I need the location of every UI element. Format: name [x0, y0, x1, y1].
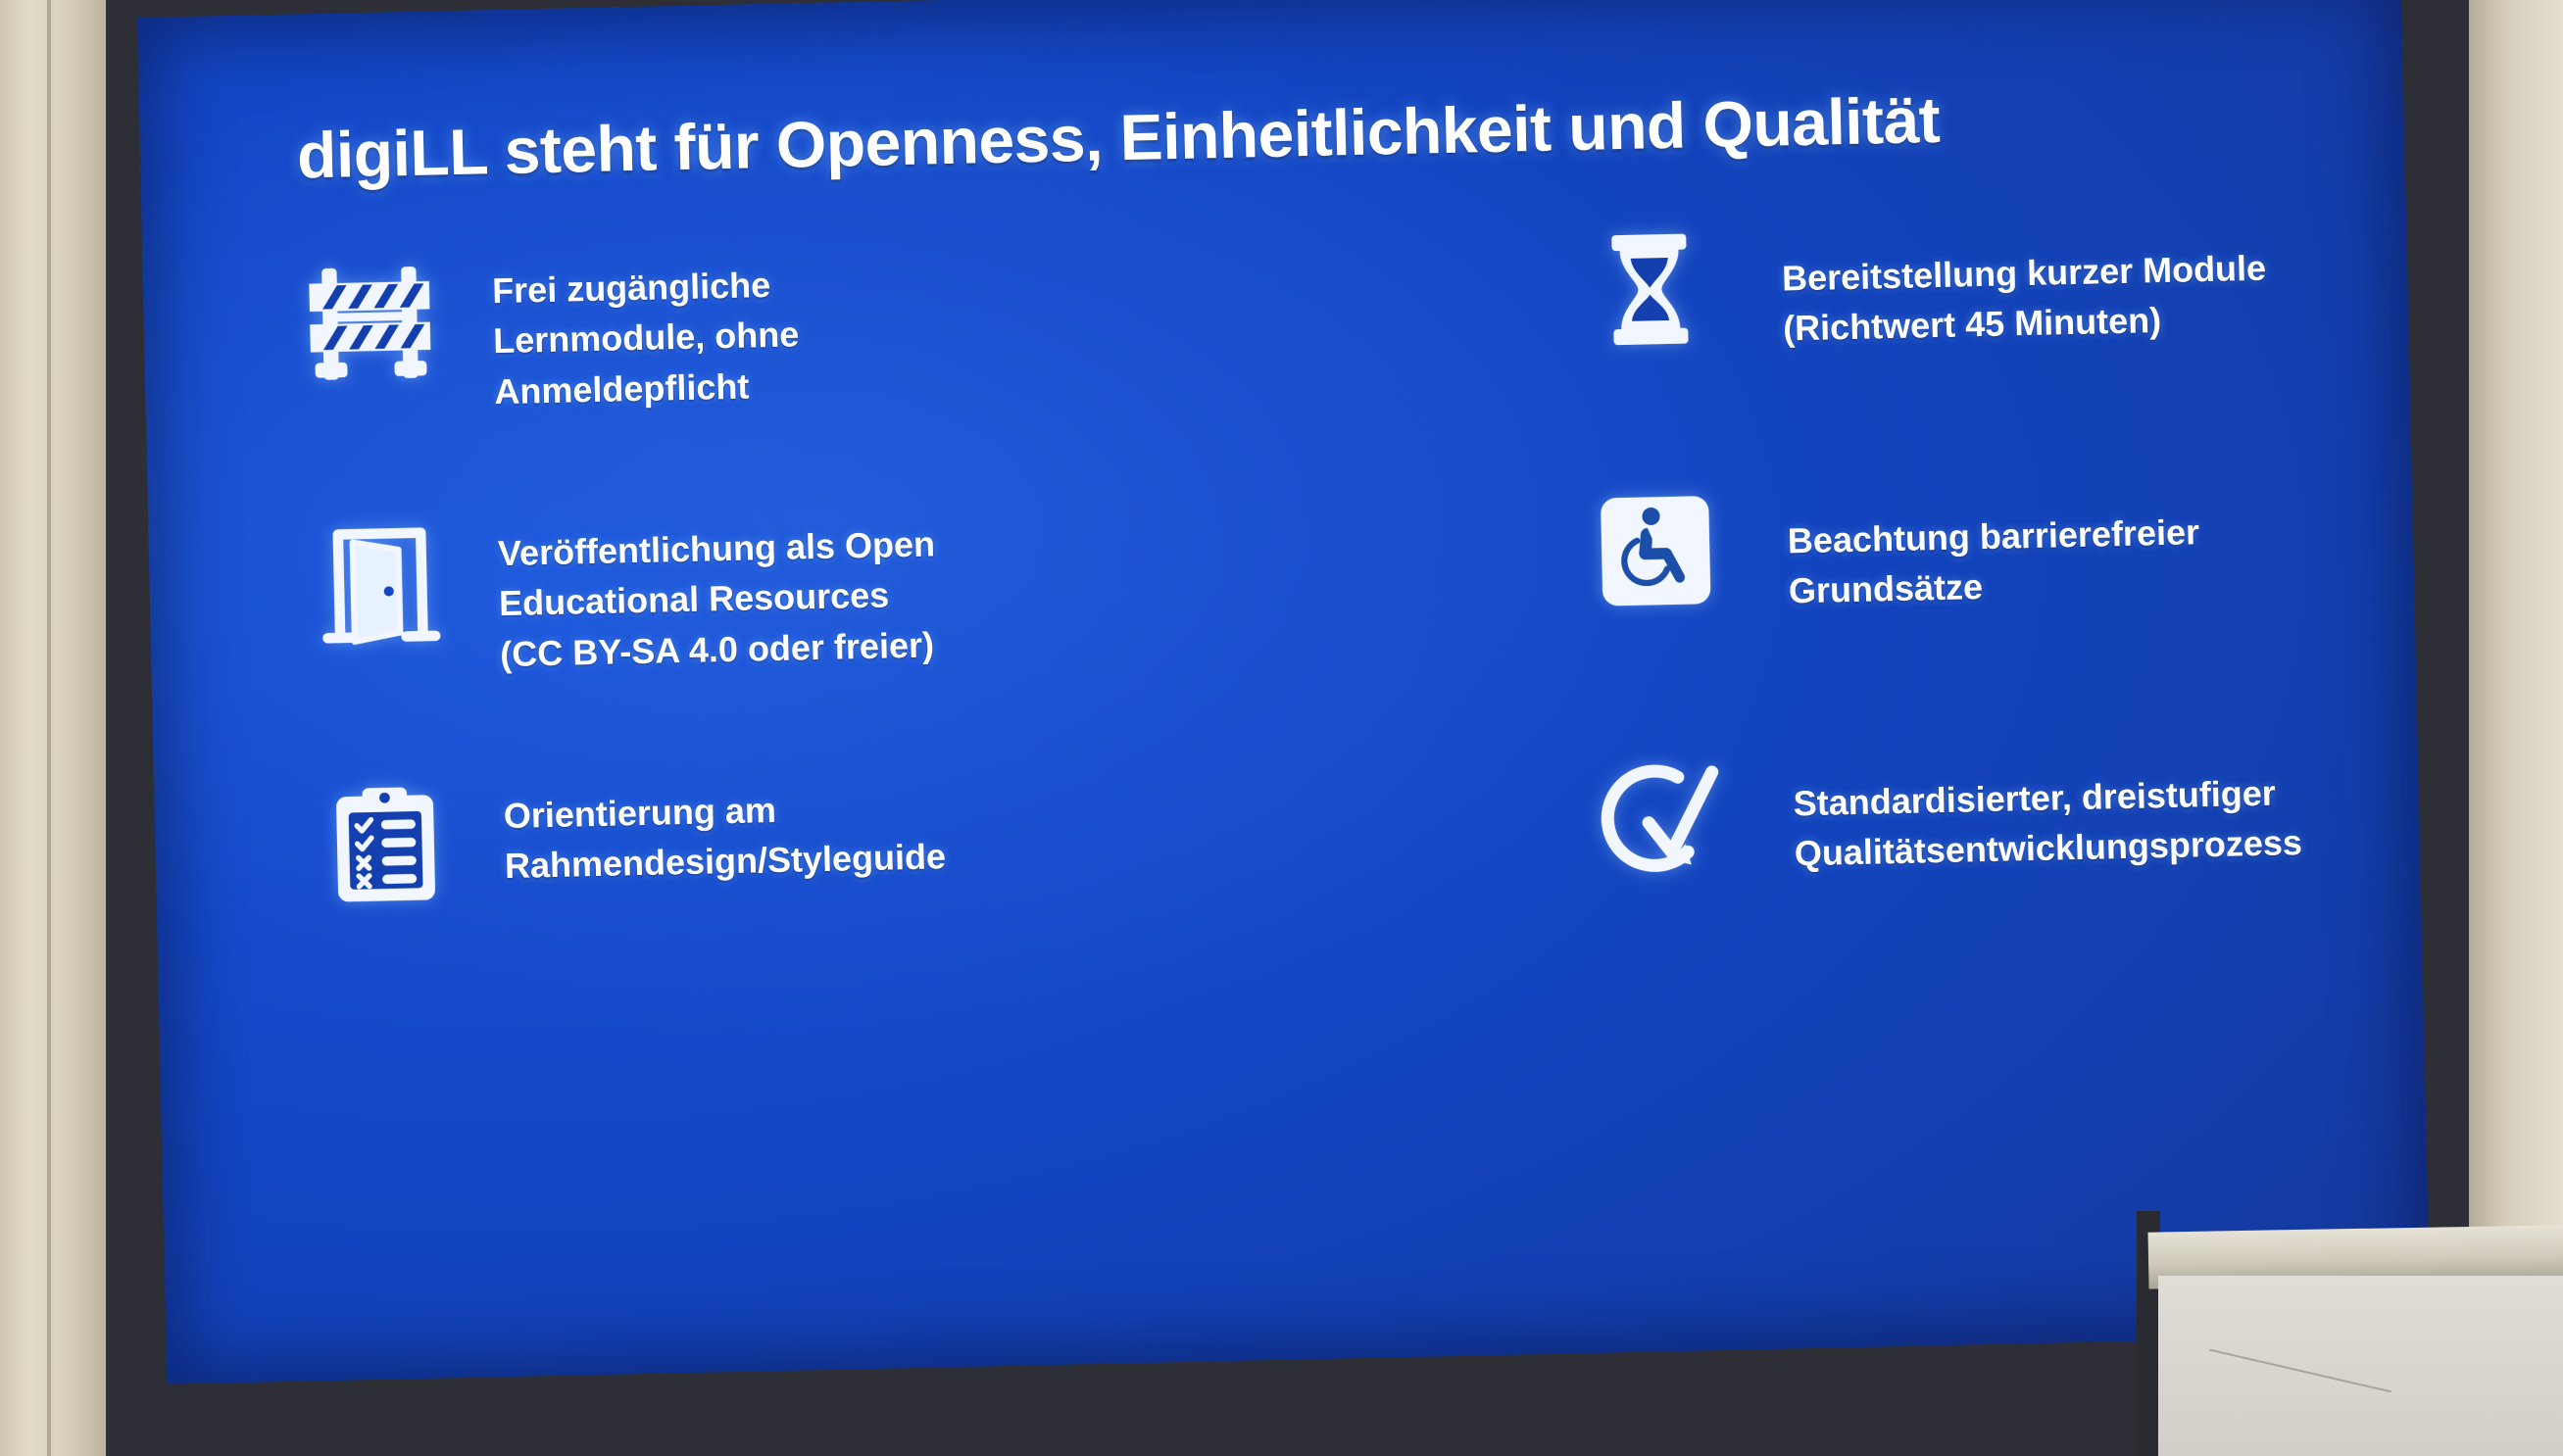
clipboard-checklist-icon	[311, 774, 461, 924]
photo-scene: digiLL steht für Openness, Einheitlichke…	[0, 0, 2563, 1456]
slide-title: digiLL steht für Openness, Einheitlichke…	[296, 78, 2287, 190]
feature-text: Orientierung am Rahmendesign/Styleguide	[503, 764, 947, 892]
feature-text: Standardisierter, dreistufiger Qualitäts…	[1792, 734, 2302, 878]
feature-grid: Frei zugängliche Lernmodule, ohne Anmeld…	[299, 209, 2305, 1040]
flipchart-paper	[2158, 1276, 2563, 1456]
feature-item-accessibility: Beachtung barrierefreier Grundsätze	[1581, 471, 2300, 750]
feature-item-quality-process: Standardisierter, dreistufiger Qualitäts…	[1587, 734, 2306, 1012]
wheelchair-accessibility-icon	[1581, 484, 1731, 634]
feature-item-open-access: Frei zugängliche Lernmodule, ohne Anmeld…	[299, 239, 938, 515]
presentation-slide: digiLL steht für Openness, Einheitlichke…	[137, 0, 2431, 1384]
feature-line: Qualitätsentwicklungsprozess	[1794, 817, 2302, 878]
feature-item-styleguide: Orientierung am Rahmendesign/Styleguide	[311, 764, 950, 1041]
flipchart-foreground-object	[2137, 1211, 2563, 1456]
feature-line: (CC BY-SA 4.0 oder freier)	[500, 619, 938, 679]
left-wall-strip	[0, 0, 106, 1456]
feature-column-right: Bereitstellung kurzer Module (Richtwert …	[1575, 209, 2306, 1012]
feature-line: Rahmendesign/Styleguide	[504, 832, 946, 892]
feature-text: Beachtung barrierefreier Grundsätze	[1787, 474, 2201, 616]
paper-crease	[2209, 1349, 2391, 1393]
barrier-icon	[299, 249, 449, 399]
feature-line: Educational Resources	[499, 569, 937, 629]
feature-line: Frei zugängliche	[492, 260, 799, 316]
feature-item-oer-license: Veröffentlichung als Open Educational Re…	[305, 502, 944, 778]
feature-text: Veröffentlichung als Open Educational Re…	[497, 502, 938, 679]
wall-seam-line	[47, 0, 51, 1456]
hourglass-icon	[1575, 221, 1725, 371]
feature-column-left: Frei zugängliche Lernmodule, ohne Anmeld…	[299, 239, 949, 1041]
feature-line: Beachtung barrierefreier	[1787, 508, 2199, 566]
feature-line: (Richtwert 45 Minuten)	[1783, 293, 2268, 354]
feature-line: Lernmodule, ohne	[493, 310, 800, 366]
feature-text: Bereitstellung kurzer Module (Richtwert …	[1781, 210, 2268, 354]
feature-item-short-modules: Bereitstellung kurzer Module (Richtwert …	[1575, 209, 2294, 487]
feature-text: Frei zugängliche Lernmodule, ohne Anmeld…	[491, 242, 801, 416]
open-door-icon	[305, 511, 455, 661]
feature-line: Grundsätze	[1788, 558, 2200, 616]
feature-line: Anmeldepflicht	[494, 360, 801, 416]
refresh-checkmark-icon	[1587, 747, 1737, 897]
